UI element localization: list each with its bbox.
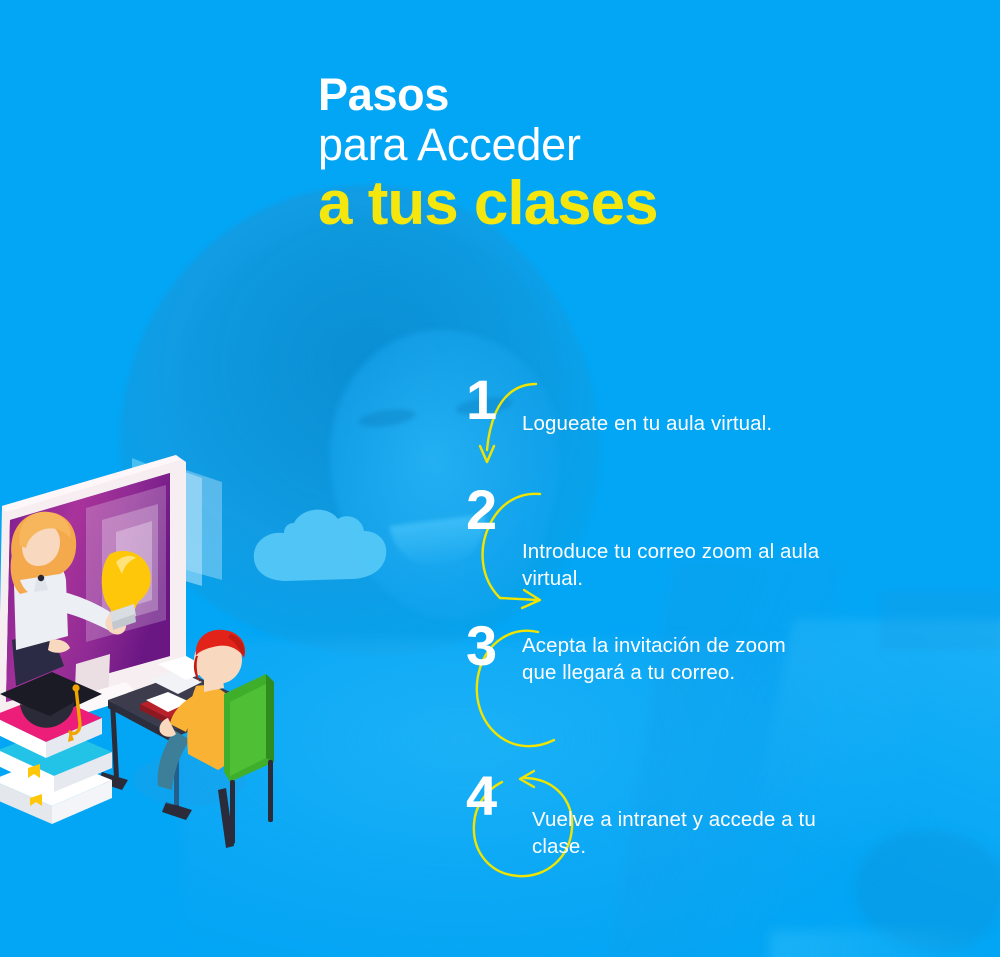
step-1-number: 1 bbox=[466, 372, 522, 428]
step-2-number: 2 bbox=[466, 482, 522, 538]
headline-line-1: Pasos bbox=[318, 72, 658, 117]
poster-canvas: Pasos para Acceder a tus clases 1 Loguea… bbox=[0, 0, 1000, 957]
step-1-text: Logueate en tu aula virtual. bbox=[522, 372, 772, 437]
step-item-3: 3 Acepta la invitación de zoom que llega… bbox=[466, 618, 886, 768]
background-sheen bbox=[770, 930, 1000, 957]
online-class-illustration bbox=[0, 450, 290, 957]
step-item-4: 4 Vuelve a intranet y accede a tu clase. bbox=[466, 768, 886, 888]
headline-line-3: a tus clases bbox=[318, 173, 658, 235]
step-3-text: Acepta la invitación de zoom que llegará… bbox=[522, 618, 822, 686]
step-4-text: Vuelve a intranet y accede a tu clase. bbox=[522, 768, 832, 860]
step-item-2: 2 Introduce tu correo zoom al aula virtu… bbox=[466, 482, 886, 618]
steps-list: 1 Logueate en tu aula virtual. 2 Introdu… bbox=[466, 372, 886, 888]
step-3-number: 3 bbox=[466, 618, 522, 674]
step-4-number: 4 bbox=[466, 768, 522, 824]
page-title: Pasos para Acceder a tus clases bbox=[318, 72, 658, 235]
headline-line-2: para Acceder bbox=[318, 122, 658, 167]
step-2-text: Introduce tu correo zoom al aula virtual… bbox=[522, 482, 822, 592]
step-item-1: 1 Logueate en tu aula virtual. bbox=[466, 372, 886, 482]
green-chair bbox=[218, 674, 274, 848]
background-panel-right bbox=[880, 590, 1000, 650]
